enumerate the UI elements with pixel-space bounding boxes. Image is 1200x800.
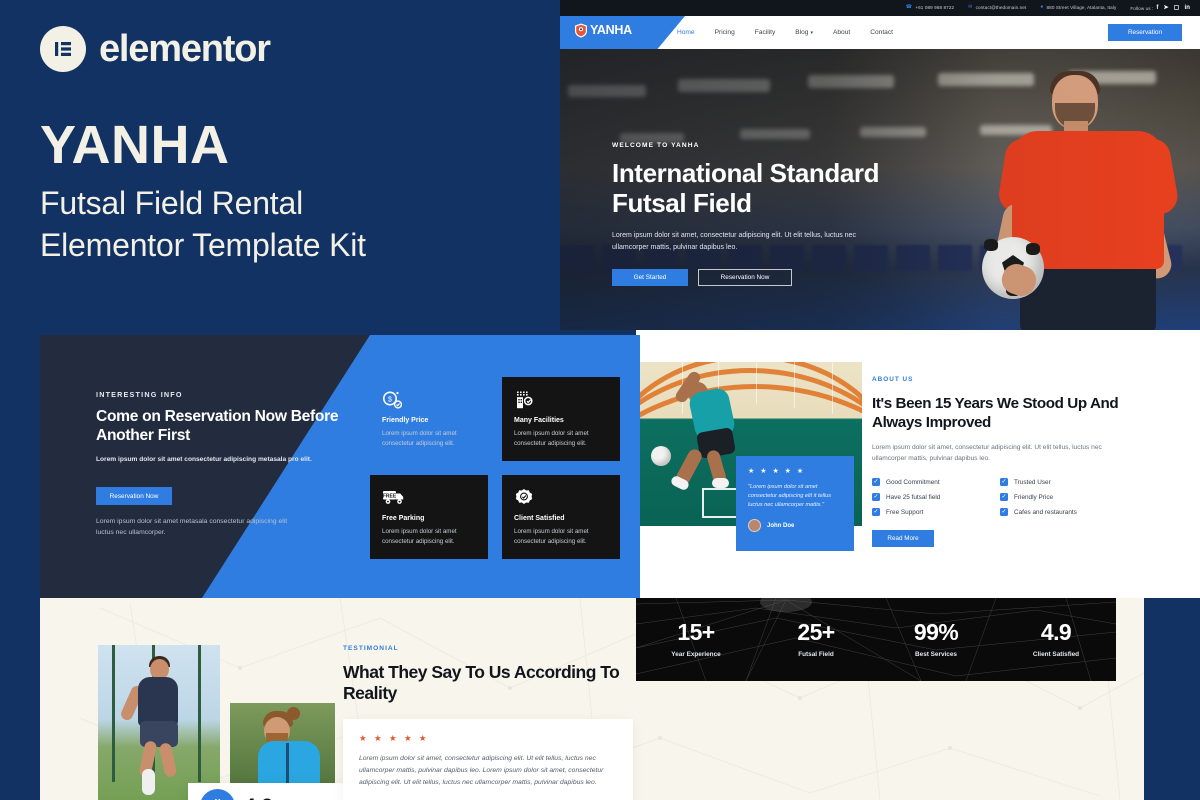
player-photo-main [98,645,220,800]
chevron-down-icon: ▾ [810,30,813,36]
topbar-email[interactable]: ✉ contact@thedomain.net [968,5,1026,10]
svg-text:$: $ [388,396,392,403]
nav-item-pricing[interactable]: Pricing [715,29,735,36]
feature-cards: $ Friendly Price Lorem ipsum dolor sit a… [370,377,620,559]
map-pin-icon: ● [1040,5,1043,10]
promo-subtitle: Futsal Field Rental Elementor Template K… [40,182,540,266]
rating-value: 4.9 [244,796,273,800]
reservation-lead: Lorem ipsum dolor sit amet consectetur a… [96,455,376,465]
reservation-title: Come on Reservation Now Before Another F… [96,407,366,446]
envelope-icon: ✉ [968,5,972,10]
feature-card-title: Free Parking [382,515,476,522]
futsal-ball-icon [651,446,671,466]
topbar-address-text: 880 Street Village, Atalanta, Italy [1047,5,1117,10]
checklist-item: ✓Have 25 futsal field [872,493,1000,501]
checklist-label: Free Support [886,509,923,516]
about-section: ABOUT US It's Been 15 Years We Stood Up … [872,376,1122,547]
social-links: f ➤ ▢ in [1156,5,1190,11]
hero-heading: International Standard Futsal Field [612,158,912,218]
about-kicker: ABOUT US [872,376,1122,383]
testimonial-kicker: TESTIMONIAL [343,645,643,652]
website-mockup: ☎ +61 089 988 8722 ✉ contact@thedomain.n… [560,0,1200,330]
site-logo-text: YANHA [590,24,632,37]
checklist-label: Friendly Price [1014,494,1053,501]
quote-text: "Lorem ipsum dolor sit amet consectetur … [748,483,842,510]
elementor-wordmark: elementor [99,30,270,68]
checklist-item: ✓Trusted User [1000,478,1120,486]
topbar-address: ● 880 Street Village, Atalanta, Italy [1040,5,1116,10]
reservation-section: INTERESTING INFO Come on Reservation Now… [40,335,640,598]
feature-card-title: Friendly Price [382,417,476,424]
checklist-item: ✓Friendly Price [1000,493,1120,501]
follow-label: Follow us : [1130,6,1153,11]
screenshot-root: elementor YANHA Futsal Field Rental Elem… [0,0,1200,800]
check-icon: ✓ [1000,508,1008,516]
stat-value: 4.9 [996,621,1116,644]
check-icon: ✓ [872,493,880,501]
badge-check-icon [514,488,608,509]
feature-card-text: Lorem ipsum dolor sit amet consectetur a… [514,527,608,546]
quote-stars: ★ ★ ★ ★ ★ [748,467,842,475]
site-logo[interactable]: YANHA [574,23,632,38]
check-icon: ✓ [872,508,880,516]
promo-subtitle-line1: Futsal Field Rental [40,182,540,224]
reservation-note: Lorem ipsum dolor sit amet metasala cons… [96,517,296,539]
nav-item-blog-label: Blog [795,29,808,36]
nav-item-about[interactable]: About [833,29,850,36]
stat-year-experience: 15+ Year Experience [636,621,756,658]
feature-card-title: Many Facilities [514,417,608,424]
nav-item-home[interactable]: Home [677,29,695,36]
topbar-email-text: contact@thedomain.net [976,5,1027,10]
main-menu: Home Pricing Facility Blog▾ About Contac… [677,16,893,49]
avatar [748,519,761,532]
quote-author-name: John Doe [767,523,794,529]
testimonial-body: Lorem ipsum dolor sit amet, consectetur … [359,753,617,789]
checklist-label: Cafes and restaurants [1014,509,1077,516]
stat-value: 15+ [636,621,756,644]
nav-item-facility[interactable]: Facility [755,29,776,36]
checklist-label: Good Commitment [886,479,940,486]
stat-client-satisfied: 4.9 Client Satisfied [996,621,1116,658]
testimonial-title: What They Say To Us According To Reality [343,662,623,705]
utility-topbar: ☎ +61 089 988 8722 ✉ contact@thedomain.n… [560,0,1200,16]
instagram-icon[interactable]: ▢ [1174,5,1180,11]
twitter-icon[interactable]: ➤ [1164,5,1169,11]
checklist-item: ✓Good Commitment [872,478,1000,486]
checklist-item: ✓Cafes and restaurants [1000,508,1120,516]
checklist-label: Have 25 futsal field [886,494,940,501]
topbar-phone-text: +61 089 988 8722 [915,5,954,10]
feature-card-text: Lorem ipsum dolor sit amet consectetur a… [382,527,476,546]
topbar-phone[interactable]: ☎ +61 089 988 8722 [906,5,954,10]
stat-futsal-field: 25+ Futsal Field [756,621,876,658]
stat-label: Client Satisfied [996,651,1116,658]
facilities-icon [514,390,608,411]
feature-card-client-satisfied[interactable]: Client Satisfied Lorem ipsum dolor sit a… [502,475,620,559]
hero-kicker: WELCOME TO YANHA [612,142,912,149]
stat-label: Futsal Field [756,651,876,658]
feature-card-friendly-price[interactable]: $ Friendly Price Lorem ipsum dolor sit a… [370,377,488,461]
check-icon: ✓ [872,478,880,486]
promo-subtitle-line2: Elementor Template Kit [40,224,540,266]
topbar-follow: Follow us : f ➤ ▢ in [1130,5,1190,11]
checklist-label: Trusted User [1014,479,1051,486]
check-icon: ✓ [1000,478,1008,486]
elementor-brand: elementor [40,26,270,72]
nav-item-blog[interactable]: Blog▾ [795,29,813,36]
testimonial-section: TESTIMONIAL What They Say To Us Accordin… [343,645,643,800]
get-started-button[interactable]: Get Started [612,269,688,286]
testimonial-stars: ★ ★ ★ ★ ★ [359,733,617,744]
hero-section: WELCOME TO YANHA International Standard … [560,49,1200,330]
feature-card-many-facilities[interactable]: Many Facilities Lorem ipsum dolor sit am… [502,377,620,461]
reservation-button[interactable]: Reservation [1108,24,1182,41]
checklist-item: ✓Free Support [872,508,1000,516]
hero-buttons: Get Started Reservation Now [612,269,912,286]
stat-label: Best Services [876,651,996,658]
shield-mascot-icon [574,23,588,38]
about-checklist: ✓Good Commitment ✓Trusted User ✓Have 25 … [872,478,1122,516]
check-icon: ✓ [1000,493,1008,501]
quote-author: John Doe [748,519,842,532]
svg-text:FREE: FREE [383,494,397,500]
phone-icon: ☎ [906,5,913,10]
feature-card-text: Lorem ipsum dolor sit amet consectetur a… [514,429,608,448]
quote-card: ★ ★ ★ ★ ★ "Lorem ipsum dolor sit amet co… [736,456,854,551]
hero-copy: WELCOME TO YANHA International Standard … [612,142,912,286]
stat-value: 25+ [756,621,876,644]
reservation-now-button[interactable]: Reservation Now [698,269,792,286]
feature-card-title: Client Satisfied [514,515,608,522]
stat-value: 99% [876,621,996,644]
right-navy-edge [1144,598,1200,800]
linkedin-icon[interactable]: in [1184,5,1190,11]
quote-mark-icon: “ [200,789,235,800]
site-navbar: YANHA Home Pricing Facility Blog▾ About … [560,16,1200,49]
reservation-kicker: INTERESTING INFO [96,390,183,399]
price-tag-icon: $ [382,390,476,411]
stats-bar: 15+ Year Experience 25+ Futsal Field 99%… [636,598,1116,681]
about-paragraph: Lorem ipsum dolor sit amet, consectetur … [872,443,1110,465]
stat-best-services: 99% Best Services [876,621,996,658]
page-title: YANHA [40,118,230,172]
promo-panel: elementor YANHA Futsal Field Rental Elem… [0,0,560,330]
hero-paragraph: Lorem ipsum dolor sit amet, consectetur … [612,230,872,253]
nav-item-contact[interactable]: Contact [870,29,893,36]
stat-label: Year Experience [636,651,756,658]
testimonial-card: ★ ★ ★ ★ ★ Lorem ipsum dolor sit amet, co… [343,719,633,800]
elementor-logo-icon [40,26,86,72]
read-more-button[interactable]: Read More [872,530,934,547]
reservation-now-cta[interactable]: Reservation Now [96,487,172,505]
free-parking-truck-icon: FREE [382,488,476,509]
about-title: It's Been 15 Years We Stood Up And Alway… [872,394,1122,432]
feature-card-free-parking[interactable]: FREE Free Parking Lorem ipsum dolor sit … [370,475,488,559]
feature-card-text: Lorem ipsum dolor sit amet consectetur a… [382,429,476,448]
facebook-icon[interactable]: f [1156,5,1158,11]
